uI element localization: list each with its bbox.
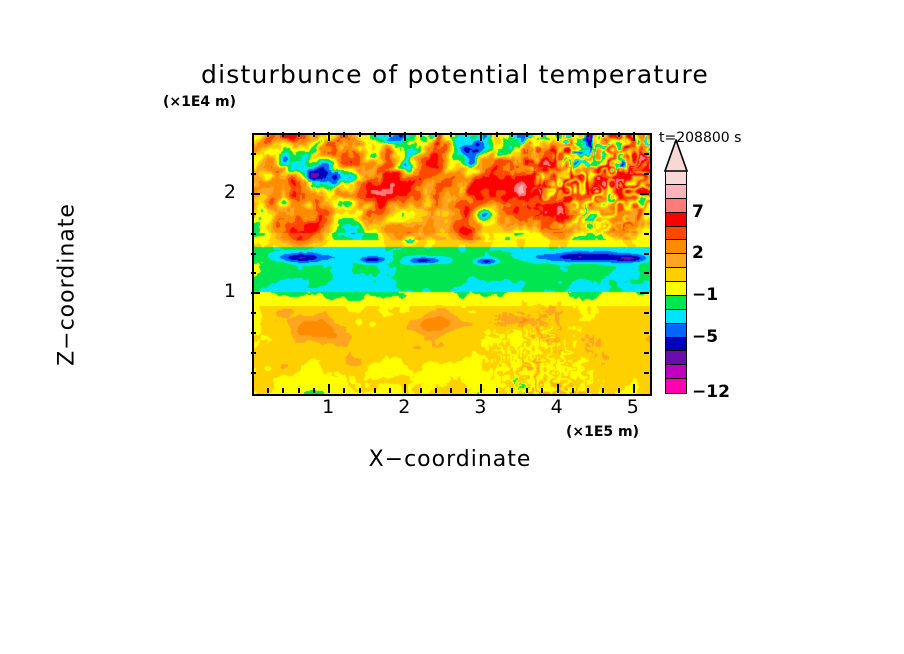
- colorbar-segment: [665, 378, 687, 393]
- x-top-tick: [328, 132, 330, 141]
- colorbar-tick-label: −12: [692, 382, 730, 402]
- x-top-tick: [587, 132, 589, 137]
- plot-area: [252, 133, 652, 396]
- x-top-tick: [618, 132, 620, 137]
- x-tick-label: 1: [313, 396, 343, 418]
- x-minor-tick: [465, 388, 467, 393]
- x-top-tick: [572, 132, 574, 137]
- x-minor-tick: [541, 388, 543, 393]
- x-top-tick: [526, 132, 528, 137]
- x-top-tick: [511, 132, 513, 137]
- x-top-tick: [359, 132, 361, 137]
- x-tick-label: 3: [465, 396, 495, 418]
- y-right-tick: [644, 372, 649, 374]
- x-minor-tick: [282, 388, 284, 393]
- x-top-tick: [541, 132, 543, 137]
- x-top-tick: [404, 132, 406, 141]
- y-minor-tick: [251, 173, 256, 175]
- x-top-tick: [420, 132, 422, 137]
- x-top-tick: [282, 132, 284, 137]
- x-minor-tick: [359, 388, 361, 393]
- y-right-tick: [644, 213, 649, 215]
- y-right-tick: [640, 292, 649, 294]
- y-right-tick: [644, 173, 649, 175]
- y-minor-tick: [251, 272, 256, 274]
- x-minor-tick: [267, 388, 269, 393]
- x-minor-tick: [435, 388, 437, 393]
- x-minor-tick: [313, 388, 315, 393]
- x-top-tick: [374, 132, 376, 137]
- x-minor-tick: [420, 388, 422, 393]
- x-minor-tick: [526, 388, 528, 393]
- x-top-tick: [480, 132, 482, 141]
- x-top-tick: [435, 132, 437, 137]
- x-top-tick: [298, 132, 300, 137]
- x-minor-tick: [450, 388, 452, 393]
- y-major-tick: [251, 193, 260, 195]
- y-right-tick: [644, 233, 649, 235]
- figure-root: disturbunce of potential temperature (×1…: [0, 0, 904, 654]
- x-major-tick: [557, 384, 559, 393]
- y-right-tick: [644, 332, 649, 334]
- heatmap-field: [254, 135, 650, 394]
- y-minor-tick: [251, 312, 256, 314]
- x-top-tick: [465, 132, 467, 137]
- y-minor-tick: [251, 352, 256, 354]
- y-minor-tick: [251, 372, 256, 374]
- colorbar-tick-label: 2: [692, 243, 704, 263]
- y-right-tick: [644, 253, 649, 255]
- x-minor-tick: [587, 388, 589, 393]
- colorbar-arrow-icon: [663, 139, 689, 172]
- x-minor-tick: [572, 388, 574, 393]
- x-minor-tick: [496, 388, 498, 393]
- y-tick-label: 2: [214, 181, 236, 203]
- x-major-tick: [633, 384, 635, 393]
- page-title: disturbunce of potential temperature: [170, 60, 740, 89]
- y-tick-label: 1: [214, 280, 236, 302]
- x-minor-tick: [511, 388, 513, 393]
- x-top-tick: [633, 132, 635, 141]
- x-axis-units-label: (×1E5 m): [566, 424, 639, 440]
- x-minor-tick: [602, 388, 604, 393]
- colorbar-tick-label: −5: [692, 327, 718, 347]
- x-top-tick: [313, 132, 315, 137]
- y-minor-tick: [251, 153, 256, 155]
- x-top-tick: [343, 132, 345, 137]
- x-tick-label: 4: [542, 396, 572, 418]
- y-minor-tick: [251, 233, 256, 235]
- colorbar-tick-label: −1: [692, 285, 718, 305]
- x-top-tick: [267, 132, 269, 137]
- x-top-tick: [450, 132, 452, 137]
- x-major-tick: [328, 384, 330, 393]
- x-top-tick: [389, 132, 391, 137]
- x-major-tick: [480, 384, 482, 393]
- x-top-tick: [557, 132, 559, 141]
- x-minor-tick: [389, 388, 391, 393]
- x-tick-label: 2: [389, 396, 419, 418]
- y-minor-tick: [251, 213, 256, 215]
- x-tick-label: 5: [618, 396, 648, 418]
- x-major-tick: [404, 384, 406, 393]
- y-right-tick: [644, 272, 649, 274]
- y-axis-units-label: (×1E4 m): [163, 94, 236, 110]
- y-right-tick: [644, 352, 649, 354]
- x-minor-tick: [298, 388, 300, 393]
- x-top-tick: [496, 132, 498, 137]
- x-minor-tick: [343, 388, 345, 393]
- y-right-tick: [640, 193, 649, 195]
- y-minor-tick: [251, 332, 256, 334]
- y-major-tick: [251, 292, 260, 294]
- x-minor-tick: [618, 388, 620, 393]
- x-axis-title: X−coordinate: [252, 447, 648, 472]
- colorbar-tick-label: 7: [692, 202, 704, 222]
- x-top-tick: [602, 132, 604, 137]
- y-right-tick: [644, 312, 649, 314]
- y-minor-tick: [251, 253, 256, 255]
- y-right-tick: [644, 153, 649, 155]
- x-minor-tick: [374, 388, 376, 393]
- colorbar: [665, 170, 687, 392]
- y-axis-title: Z−coordinate: [55, 155, 80, 415]
